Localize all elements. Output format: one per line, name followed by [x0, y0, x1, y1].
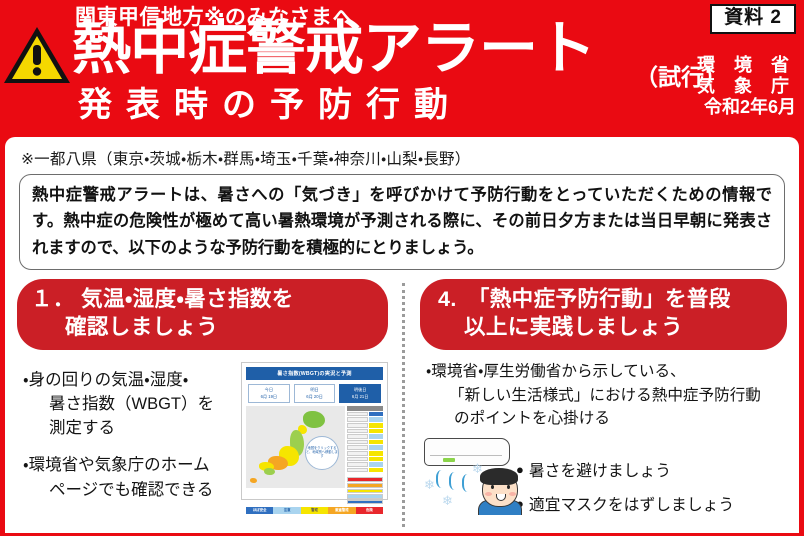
section-1-content: ・身の回りの気温・湿度・ 暑さ指数（WBGT）を 測定する ・環境省や気象庁のホ…: [17, 358, 388, 514]
table-row: [347, 500, 383, 505]
bullet-line: ・身の回りの気温・湿度・: [23, 371, 188, 389]
table-row: [347, 462, 383, 467]
wbgt-map-screenshot: 暑さ指数(WBGT)の実況と予測 今日 6月 19日 明日 6月 20日: [241, 362, 388, 500]
table-row: [347, 412, 383, 417]
issuer-date: 令和2年6月: [697, 97, 796, 118]
air-conditioner-icon: [424, 438, 510, 466]
page-title: 熱中症警戒アラート: [72, 20, 595, 78]
wbgt-tab-date: 6月 20日: [295, 394, 335, 400]
table-row: [347, 468, 383, 473]
wbgt-tabs: 今日 6月 19日 明日 6月 20日 明後日 6月 21日: [248, 384, 381, 403]
snowflake-icon: ❄: [442, 494, 453, 507]
poster-header: 資料 2 関東甲信地方※のみなさまへ 熱中症警戒アラート （試行） 発表時の予防…: [0, 0, 804, 137]
section-1-bullets: ・身の回りの気温・湿度・ 暑さ指数（WBGT）を 測定する ・環境省や気象庁のホ…: [17, 358, 235, 514]
section-1: １． 気温・湿度・暑さ指数を 確認しましょう ・身の回りの気温・湿度・ 暑さ指数…: [17, 279, 402, 526]
intro-text: 熱中症警戒アラートは、暑さへの「気づき」を呼びかけて予防行動をとっていただくため…: [32, 182, 772, 261]
legend-item: 危険: [356, 507, 383, 514]
table-row: [347, 434, 383, 439]
list-item: ・環境省や気象庁のホーム ページでも確認できる: [23, 453, 235, 501]
wbgt-tab-tomorrow[interactable]: 明日 6月 20日: [294, 384, 336, 403]
airflow-line: [449, 472, 463, 490]
japan-map[interactable]: 地図をクリックすると、地域別へ移動します: [246, 406, 345, 488]
wbgt-tab-today[interactable]: 今日 6月 19日: [248, 384, 290, 403]
warning-triangle-icon: [2, 24, 72, 86]
legend-item: ほぼ安全: [246, 507, 273, 514]
table-row: [347, 445, 383, 450]
section-4-heading: 4. 「熱中症予防行動」を普段 以上に実践しましょう: [420, 279, 787, 350]
list-item: ・環境省・厚生労働省から示している、 「新しい生活様式」における熱中症予防行動 …: [426, 360, 787, 430]
bullet-line: 暑さ指数（WBGT）を: [49, 395, 214, 413]
list-item: ●適宜マスクをはずしましょう: [516, 492, 787, 515]
wbgt-body: 地図をクリックすると、地域別へ移動します: [246, 406, 383, 505]
table-row: [347, 489, 383, 494]
intro-box: 熱中症警戒アラートは、暑さへの「気づき」を呼びかけて予防行動をとっていただくため…: [19, 174, 785, 270]
issuer-meteorological-agency: 気 象 庁: [697, 76, 796, 97]
issuer-block: 環 境 省 気 象 庁 令和2年6月: [697, 55, 796, 119]
poster-root: 資料 2 関東甲信地方※のみなさまへ 熱中症警戒アラート （試行） 発表時の予防…: [0, 0, 804, 536]
body-panel: ※一都八県（東京・茨城・栃木・群馬・埼玉・千葉・神奈川・山梨・長野） 熱中症警戒…: [5, 137, 799, 533]
prefectures-note: ※一都八県（東京・茨城・栃木・群馬・埼玉・千葉・神奈川・山梨・長野）: [21, 147, 787, 169]
wbgt-title: 暑さ指数(WBGT)の実況と予測: [246, 367, 383, 380]
page-subtitle: 発表時の予防行動: [78, 88, 462, 122]
table-row: [347, 417, 383, 422]
section-4-heading-line1: 4. 「熱中症予防行動」を普段: [438, 286, 777, 314]
legend-item: 注意: [273, 507, 300, 514]
airflow-line: [462, 474, 476, 492]
wbgt-legend: ほぼ安全 注意 警戒 厳重警戒 危険: [246, 507, 383, 514]
section-4-dot-bullets: ●暑さを避けましょう ●適宜マスクをはずしましょう: [516, 458, 787, 515]
table-row: [347, 494, 383, 499]
bullet-line: ページでも確認できる: [49, 481, 213, 499]
wbgt-prefecture-table: [347, 406, 383, 505]
section-4-heading-line2: 以上に実践しましょう: [438, 314, 777, 342]
section-4: 4. 「熱中症予防行動」を普段 以上に実践しましょう ・環境省・厚生労働省から示…: [402, 279, 787, 526]
wbgt-tab-date: 6月 19日: [249, 394, 289, 400]
bullet-line: 測定する: [49, 419, 115, 437]
bullet-line: のポイントを心掛ける: [454, 410, 610, 427]
table-row: [347, 429, 383, 434]
issuer-ministry-environment: 環 境 省: [697, 55, 796, 76]
snowflake-icon: ❄: [424, 478, 435, 491]
section-1-heading-line2: 確認しましょう: [31, 314, 378, 342]
legend-item: 厳重警戒: [328, 507, 355, 514]
table-row: [347, 423, 383, 428]
table-row: [347, 457, 383, 462]
dot-bullet-label: 暑さを避けましょう: [529, 463, 671, 480]
section-1-heading: １． 気温・湿度・暑さ指数を 確認しましょう: [17, 279, 388, 350]
bullet-line: 「新しい生活様式」における熱中症予防行動: [449, 387, 761, 404]
section-1-heading-line1: １． 気温・湿度・暑さ指数を: [31, 286, 378, 314]
section-4-bullets: ・環境省・厚生労働省から示している、 「新しい生活様式」における熱中症予防行動 …: [420, 360, 787, 430]
bullet-line: ・環境省・厚生労働省から示している、: [426, 363, 686, 380]
table-row: [347, 440, 383, 445]
map-click-hint: 地図をクリックすると、地域別へ移動します: [305, 436, 339, 470]
wbgt-tab-day-after[interactable]: 明後日 6月 21日: [339, 384, 381, 403]
airflow-line: [436, 470, 450, 488]
dot-bullet-label: 適宜マスクをはずしましょう: [529, 497, 734, 514]
list-item: ●暑さを避けましょう: [516, 458, 787, 481]
wbgt-tab-date: 6月 21日: [340, 394, 380, 400]
document-number-badge: 資料 2: [710, 4, 796, 34]
table-row: [347, 483, 383, 488]
table-row: [347, 477, 383, 482]
table-row: [347, 451, 383, 456]
sections-columns: １． 気温・湿度・暑さ指数を 確認しましょう ・身の回りの気温・湿度・ 暑さ指数…: [17, 279, 787, 526]
list-item: ・身の回りの気温・湿度・ 暑さ指数（WBGT）を 測定する: [23, 368, 235, 440]
bullet-line: ・環境省や気象庁のホーム: [23, 456, 210, 474]
boy-hair: [480, 468, 518, 485]
table-header: [347, 406, 383, 411]
legend-item: 警戒: [301, 507, 328, 514]
air-conditioner-and-boy-illustration: ❄ ❄ ❄: [420, 432, 540, 510]
